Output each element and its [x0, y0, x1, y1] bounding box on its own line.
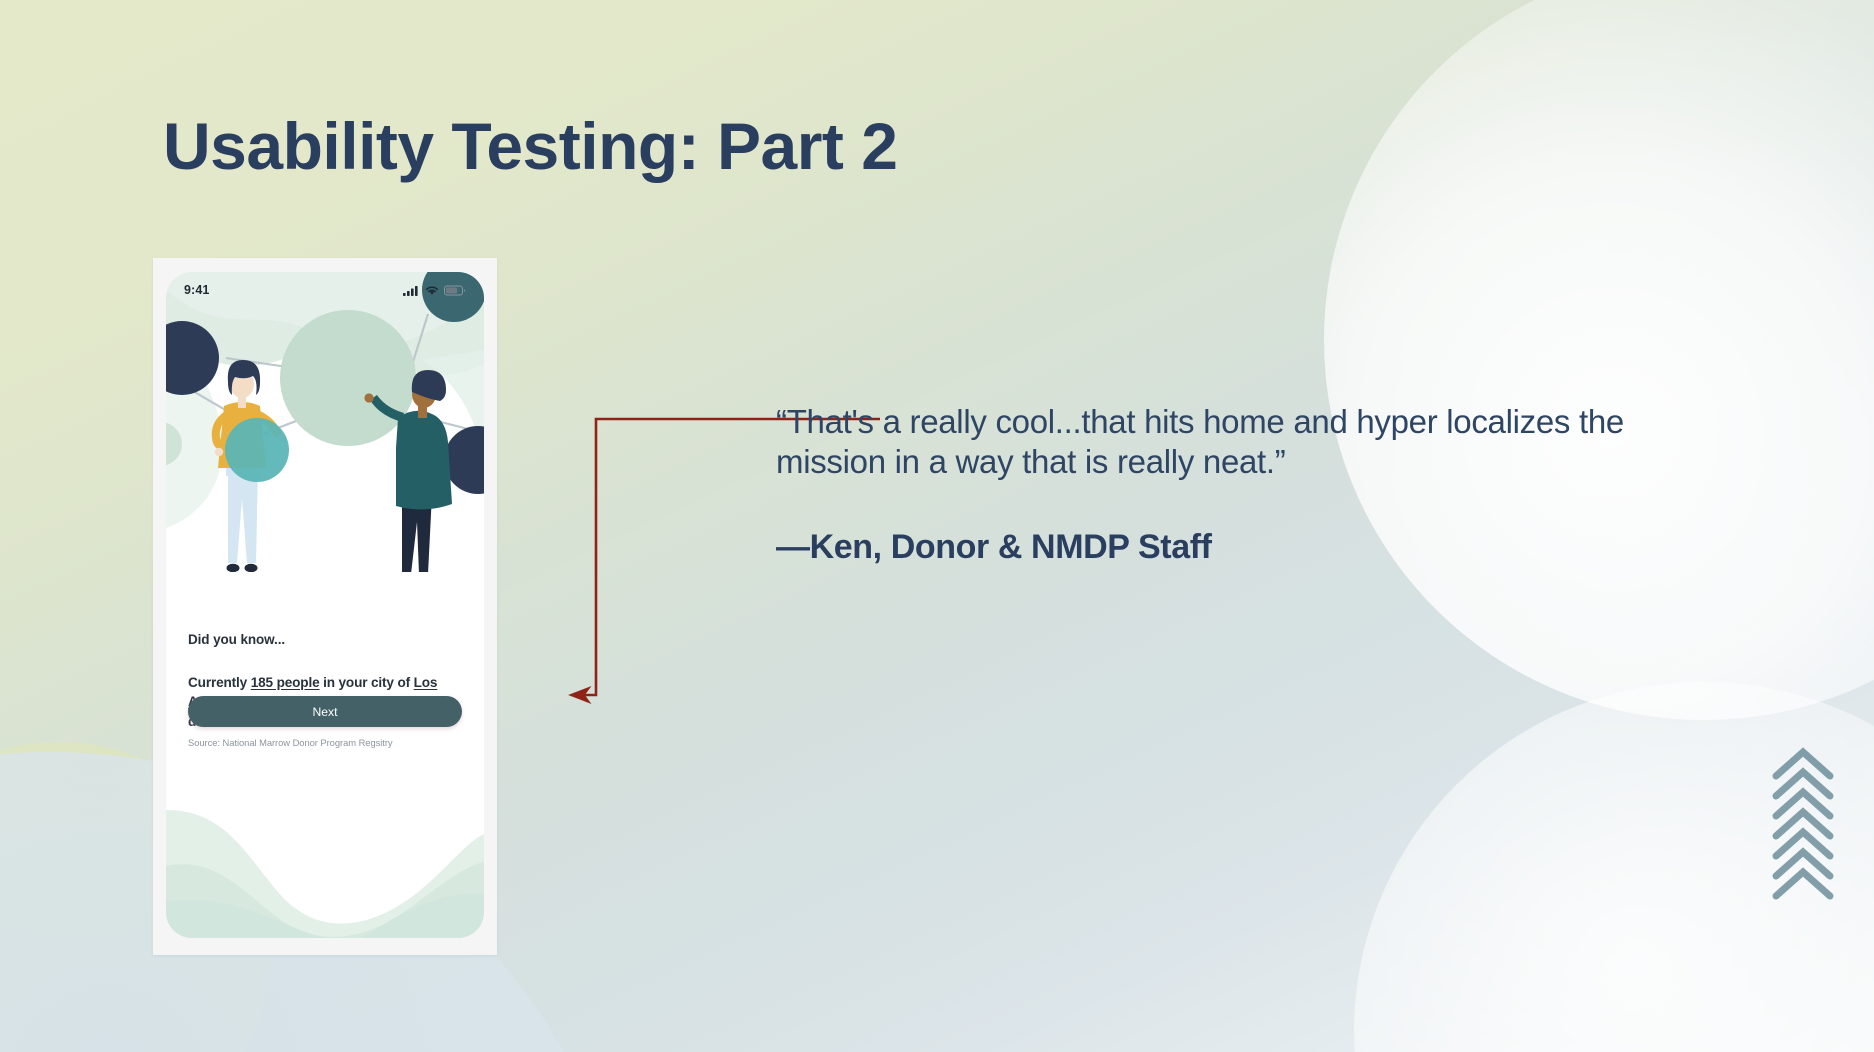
status-icon-group [403, 285, 466, 296]
decorative-waves [166, 706, 484, 938]
illustration-area: 9:41 [166, 272, 484, 610]
decor-circle-right [1324, 0, 1874, 720]
card-heading: Did you know... [188, 632, 462, 647]
next-button[interactable]: Next [188, 696, 462, 727]
battery-icon [444, 285, 466, 296]
phone-status-bar: 9:41 [166, 272, 484, 308]
status-time: 9:41 [184, 283, 209, 297]
phone-mockup: 9:41 [153, 258, 497, 955]
fact-middle: in your city of [319, 675, 413, 690]
quote-attribution: —Ken, Donor & NMDP Staff [776, 528, 1212, 567]
cta-container: Next [166, 696, 484, 727]
page-title: Usability Testing: Part 2 [163, 108, 897, 184]
fact-count: 185 people [251, 675, 320, 690]
signal-bars-icon [403, 285, 420, 296]
fact-prefix: Currently [188, 675, 251, 690]
phone-screen: 9:41 [166, 272, 484, 938]
quote-text: “That's a really cool...that hits home a… [776, 402, 1706, 483]
wifi-icon [425, 285, 439, 296]
two-people-with-balloons-illustration [166, 272, 484, 610]
chevron-up-stack-icon [1764, 742, 1842, 902]
